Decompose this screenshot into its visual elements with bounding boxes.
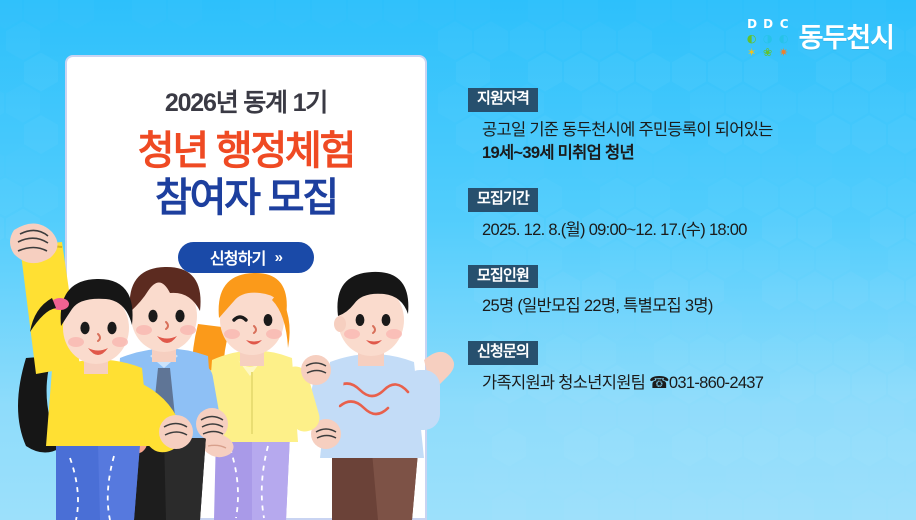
hexagon-decor (24, 115, 58, 154)
hexagon-decor (852, 428, 886, 467)
hexagon-decor (456, 0, 490, 29)
hexagon-decor (0, 178, 22, 217)
hexagon-decor (636, 0, 670, 29)
apply-button-label: 신청하기 (210, 245, 266, 269)
hexagon-decor (438, 84, 472, 123)
hexagon-decor (906, 146, 916, 185)
ddc-logo-mark: DDC◐◑◐✶❀✷ (745, 18, 791, 58)
hexagon-decor (672, 53, 706, 92)
info-badge: 모집인원 (468, 265, 538, 289)
info-badge: 신청문의 (468, 341, 538, 365)
hexagon-decor (384, 0, 418, 29)
hexagon-decor (0, 0, 22, 29)
hexagon-decor (240, 0, 274, 29)
hexagon-decor (420, 0, 454, 29)
card-eyebrow: 2026년 동계 1기 (67, 90, 425, 118)
promo-card: 2026년 동계 1기 청년 행정체험 참여자 모집 신청하기 » (65, 55, 427, 520)
hexagon-decor (888, 490, 916, 520)
logo-cell-1: D (761, 18, 775, 30)
hexagon-decor (708, 490, 742, 520)
logo-cell-6: ✶ (745, 46, 759, 58)
hexagon-decor (600, 490, 634, 520)
hexagon-decor (744, 490, 778, 520)
hexagon-decor (708, 428, 742, 467)
info-line: 19세~39세 미취업 청년 (482, 142, 898, 166)
hexagon-decor (456, 53, 490, 92)
hexagon-decor (870, 459, 904, 498)
logo-cell-0: D (745, 18, 759, 30)
hexagon-decor (564, 53, 598, 92)
hexagon-decor (132, 0, 166, 29)
hexagon-decor (906, 21, 916, 60)
info-block: 모집인원25명 (일반모집 22명, 특별모집 3명) (468, 265, 898, 319)
hexagon-decor (636, 490, 670, 520)
hexagon-decor (690, 21, 724, 60)
card-title-line1: 청년 행정체험 (67, 130, 425, 173)
hexagon-decor (546, 459, 580, 498)
hexagon-decor (348, 0, 382, 29)
hexagon-decor (762, 459, 796, 498)
hexagon-decor (888, 428, 916, 467)
hexagon-decor (906, 459, 916, 498)
hexagon-decor (438, 21, 472, 60)
hexagon-decor (600, 53, 634, 92)
hexagon-decor (906, 84, 916, 123)
hexagon-decor (510, 459, 544, 498)
hexagon-decor (168, 0, 202, 29)
info-line: 2025. 12. 8.(월) 09:00~12. 17.(수) 18:00 (482, 219, 898, 243)
hexagon-decor (24, 53, 58, 92)
hexagon-decor (654, 396, 688, 435)
hexagon-decor (672, 0, 706, 29)
info-block: 모집기간2025. 12. 8.(월) 09:00~12. 17.(수) 18:… (468, 188, 898, 242)
hexagon-decor (834, 459, 868, 498)
hexagon-decor (312, 0, 346, 29)
hexagon-decor (528, 53, 562, 92)
logo-cell-2: C (777, 18, 791, 30)
info-line: 가족지원과 청소년지원팀 ☎031-860-2437 (482, 372, 898, 396)
hexagon-decor (618, 396, 652, 435)
info-lines: 2025. 12. 8.(월) 09:00~12. 17.(수) 18:00 (468, 219, 898, 243)
info-lines: 공고일 기준 동두천시에 주민등록이 되어있는19세~39세 미취업 청년 (468, 119, 898, 167)
hexagon-decor (708, 0, 742, 29)
hexagon-decor (780, 428, 814, 467)
hexagon-decor (582, 459, 616, 498)
info-badge: 모집기간 (468, 188, 538, 212)
hexagon-decor (6, 84, 40, 123)
hexagon-decor (618, 21, 652, 60)
hexagon-decor (546, 396, 580, 435)
logo-cell-4: ◑ (761, 32, 775, 44)
hexagon-decor (870, 396, 904, 435)
hexagon-decor (6, 209, 40, 248)
logo-cell-8: ✷ (777, 46, 791, 58)
info-block: 신청문의가족지원과 청소년지원팀 ☎031-860-2437 (468, 341, 898, 395)
hexagon-decor (6, 21, 40, 60)
hexagon-decor (816, 53, 850, 92)
logo-cell-5: ◐ (777, 32, 791, 44)
ddc-city-logo: DDC◐◑◐✶❀✷ 동두천시 (745, 18, 894, 58)
info-panel: 지원자격공고일 기준 동두천시에 주민등록이 되어있는19세~39세 미취업 청… (468, 88, 898, 396)
hexagon-decor (276, 0, 310, 29)
hexagon-decor (564, 490, 598, 520)
hexagon-decor (0, 209, 4, 248)
hexagon-decor (816, 428, 850, 467)
hexagon-decor (618, 459, 652, 498)
hexagon-decor (474, 21, 508, 60)
hexagon-decor (0, 84, 4, 123)
logo-cell-3: ◐ (745, 32, 759, 44)
hexagon-decor (474, 459, 508, 498)
hexagon-decor (528, 0, 562, 29)
hexagon-decor (726, 459, 760, 498)
info-line: 공고일 기준 동두천시에 주민등록이 되어있는 (482, 119, 898, 143)
hexagon-decor (852, 53, 886, 92)
hexagon-decor (708, 53, 742, 92)
hexagon-decor (474, 396, 508, 435)
hexagon-decor (762, 396, 796, 435)
chevron-right-icon: » (275, 249, 283, 266)
hexagon-decor (510, 21, 544, 60)
hexagon-decor (582, 21, 616, 60)
card-title-line2: 참여자 모집 (67, 177, 425, 220)
hexagon-decor (780, 490, 814, 520)
info-lines: 25명 (일반모집 22명, 특별모집 3명) (468, 295, 898, 319)
hexagon-decor (564, 428, 598, 467)
hexagon-decor (492, 428, 526, 467)
info-lines: 가족지원과 청소년지원팀 ☎031-860-2437 (468, 372, 898, 396)
hexagon-decor (906, 209, 916, 248)
hexagon-decor (744, 428, 778, 467)
hexagon-decor (24, 178, 58, 217)
hexagon-decor (60, 0, 94, 29)
hexagon-decor (672, 428, 706, 467)
hexagon-decor (906, 271, 916, 310)
hexagon-decor (492, 490, 526, 520)
hexagon-decor (582, 396, 616, 435)
hexagon-decor (636, 53, 670, 92)
hexagon-decor (6, 146, 40, 185)
hexagon-decor (546, 21, 580, 60)
hexagon-decor (654, 459, 688, 498)
info-badge: 지원자격 (468, 88, 538, 112)
apply-button[interactable]: 신청하기 » (178, 242, 314, 273)
logo-cell-7: ❀ (761, 46, 775, 58)
hexagon-decor (24, 0, 58, 29)
hexagon-decor (0, 146, 4, 185)
hexagon-decor (852, 490, 886, 520)
hexagon-decor (672, 490, 706, 520)
logo-city-name: 동두천시 (799, 25, 894, 52)
hexagon-decor (726, 396, 760, 435)
hexagon-decor (600, 428, 634, 467)
info-line: 25명 (일반모집 22명, 특별모집 3명) (482, 295, 898, 319)
hexagon-decor (834, 396, 868, 435)
hexagon-decor (690, 396, 724, 435)
hexagon-decor (564, 0, 598, 29)
info-block: 지원자격공고일 기준 동두천시에 주민등록이 되어있는19세~39세 미취업 청… (468, 88, 898, 166)
